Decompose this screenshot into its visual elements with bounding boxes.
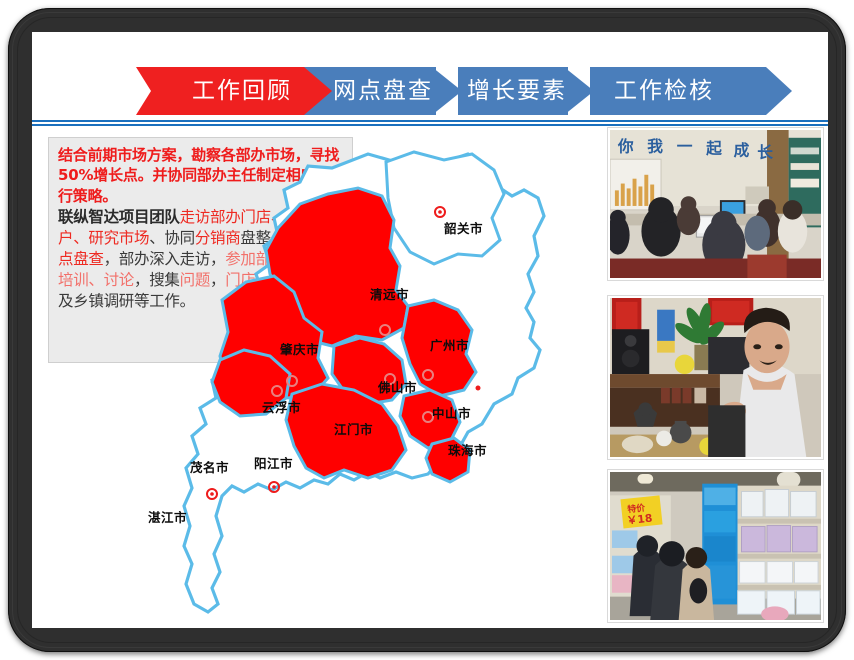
map-label-zhongshan: 中山市 bbox=[432, 403, 471, 422]
summary-body-run: ，县城及乡镇调研等工作。 bbox=[58, 271, 332, 310]
svg-text:成: 成 bbox=[734, 140, 750, 159]
map-label-jiangmen: 江门市 bbox=[334, 419, 373, 438]
svg-text:起: 起 bbox=[705, 138, 722, 157]
ribbon-inactive-band bbox=[292, 67, 792, 115]
summary-body-run: ，搜集 bbox=[134, 271, 180, 289]
ribbon-separator-2 bbox=[568, 67, 590, 115]
map-label-yangjiang: 阳江市 bbox=[254, 453, 293, 472]
svg-text:￥18: ￥18 bbox=[626, 512, 653, 528]
region-jiangmen bbox=[286, 384, 406, 478]
svg-text:我: 我 bbox=[647, 136, 663, 155]
tab-label-growth-factors[interactable]: 增长要素 bbox=[446, 67, 588, 115]
divider-line-top bbox=[32, 120, 828, 122]
guangdong-province-map: 韶关市 清远市 肇庆市 广州市 佛山市 云浮市 中山市 江门市 珠海市 阳江市 … bbox=[182, 132, 602, 622]
region-guangzhou bbox=[402, 300, 476, 396]
region-shaoguan bbox=[386, 152, 504, 264]
device-bezel: 工作回顾 网点盘查 增长要素 工作检核 结合前期市场方案，勘察各部办市场，寻找5… bbox=[8, 8, 846, 652]
dot-yunfu bbox=[272, 386, 282, 396]
summary-body-run: 走访部办门店、 bbox=[180, 208, 286, 226]
photo-client-interview-image bbox=[610, 298, 821, 457]
summary-body-run: 盘整，追踪 bbox=[240, 229, 316, 247]
map-base-regions bbox=[184, 152, 544, 612]
svg-text:一: 一 bbox=[677, 136, 693, 155]
map-label-zhaoqing: 肇庆市 bbox=[280, 339, 319, 358]
region-zhongshan bbox=[400, 390, 460, 448]
tab-label-outlet-audit[interactable]: 网点盘查 bbox=[308, 67, 458, 115]
region-yunfu bbox=[212, 350, 290, 416]
map-city-dots bbox=[182, 207, 481, 542]
region-outline-province bbox=[184, 154, 544, 612]
summary-body-run: 网点盘查 bbox=[58, 229, 332, 268]
region-foshan bbox=[332, 338, 406, 404]
summary-heading: 结合前期市场方案，勘察各部办市场，寻找50%增长点。并协同部办主任制定相应执行策… bbox=[58, 145, 344, 206]
photo-client-interview bbox=[608, 296, 823, 459]
svg-text:长: 长 bbox=[757, 142, 773, 161]
dot-shaoguan bbox=[435, 207, 445, 217]
map-label-qingyuan: 清远市 bbox=[370, 284, 409, 303]
dot-small-marker bbox=[476, 386, 481, 391]
tab-active-work-review[interactable] bbox=[136, 67, 332, 115]
summary-textbox: 结合前期市场方案，勘察各部办市场，寻找50%增长点。并协同部办主任制定相应执行策… bbox=[48, 137, 353, 363]
summary-body: 联纵智达项目团队走访部办门店、拜访客户、研究市场、协同分销商盘整，追踪网点盘查，… bbox=[58, 207, 344, 312]
map-label-zhanjiang: 湛江市 bbox=[148, 507, 187, 526]
photo-store-visit: 特价 ￥18 bbox=[608, 470, 823, 622]
dot-zhongshan bbox=[423, 412, 433, 422]
map-label-maoming: 茂名市 bbox=[190, 457, 229, 476]
map-label-shaoguan: 韶关市 bbox=[444, 218, 483, 237]
dot-shaoguan-core bbox=[438, 210, 442, 214]
summary-body-run: 门店走访 bbox=[225, 271, 286, 289]
section-ribbon-nav: 工作回顾 网点盘查 增长要素 工作检核 bbox=[136, 67, 792, 115]
map-label-guangzhou: 广州市 bbox=[430, 335, 469, 354]
summary-body-run: 问题 bbox=[180, 271, 210, 289]
ribbon-chevron-2-icon bbox=[564, 67, 594, 115]
header-divider-rule bbox=[32, 120, 828, 126]
svg-text:你: 你 bbox=[617, 136, 634, 155]
photo-meeting-room-image: 你我一 起成长 bbox=[610, 130, 821, 278]
dot-guangzhou bbox=[423, 370, 433, 380]
dot-yangjiang bbox=[269, 482, 279, 492]
summary-body-run: 参加部办晨会、培训、讨论 bbox=[58, 250, 332, 289]
map-svg bbox=[182, 132, 602, 622]
dot-foshan bbox=[385, 374, 395, 384]
dot-yangjiang-core bbox=[272, 485, 276, 489]
photo-store-visit-image: 特价 ￥18 bbox=[610, 472, 821, 620]
dot-qingyuan bbox=[380, 325, 390, 335]
map-label-yunfu: 云浮市 bbox=[262, 397, 301, 416]
svg-text:特价: 特价 bbox=[627, 502, 646, 516]
region-qingyuan bbox=[266, 188, 408, 346]
dot-maoming-core bbox=[210, 492, 214, 496]
summary-body-run: ，部办深入走访， bbox=[104, 250, 226, 268]
summary-body-run: ， bbox=[210, 271, 225, 289]
dot-maoming bbox=[207, 489, 217, 499]
ribbon-chevron-1-icon bbox=[432, 67, 462, 115]
divider-line-bottom bbox=[32, 124, 828, 126]
ribbon-separator-1 bbox=[436, 67, 458, 115]
summary-body-run: 、协同 bbox=[149, 229, 195, 247]
map-highlighted-regions bbox=[212, 188, 476, 482]
summary-body-run: 联纵智达项目团队 bbox=[58, 208, 180, 226]
summary-body-run: 拜访客户、研究市场 bbox=[58, 208, 332, 247]
presentation-slide: 工作回顾 网点盘查 增长要素 工作检核 结合前期市场方案，勘察各部办市场，寻找5… bbox=[32, 32, 828, 628]
dot-zhaoqing bbox=[287, 376, 297, 386]
tab-label-work-assessment[interactable]: 工作检核 bbox=[584, 67, 744, 115]
region-zhaoqing bbox=[220, 276, 328, 398]
map-label-zhuhai: 珠海市 bbox=[448, 440, 487, 459]
photo-meeting-room: 你我一 起成长 bbox=[608, 128, 823, 280]
map-label-foshan: 佛山市 bbox=[378, 377, 417, 396]
summary-body-run: 分销商 bbox=[195, 229, 241, 247]
region-zhuhai bbox=[426, 438, 470, 482]
tab-label-work-review[interactable]: 工作回顾 bbox=[154, 67, 330, 115]
